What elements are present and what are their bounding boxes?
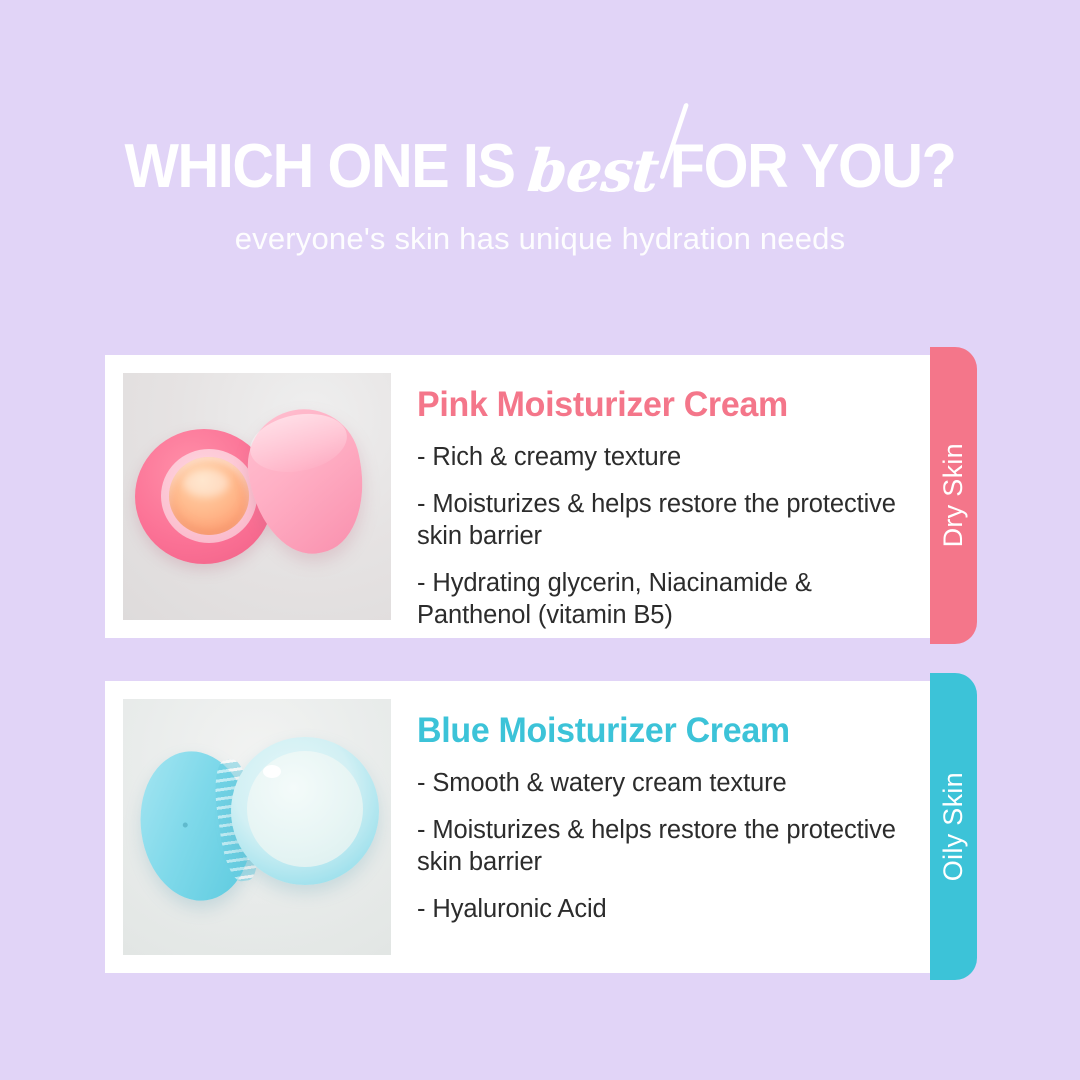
blue-moisturizer-jar-photo xyxy=(123,699,391,955)
page-header: WHICH ONE ISbestFOR YOU? everyone's skin… xyxy=(0,0,1080,258)
blue-bullet-1: - Smooth & watery cream texture xyxy=(417,767,917,799)
headline-script-word: best xyxy=(525,136,662,206)
page-title: WHICH ONE ISbestFOR YOU? xyxy=(38,132,1042,202)
headline-part-1: WHICH ONE IS xyxy=(124,132,514,202)
oily-skin-tab-label: Oily Skin xyxy=(938,772,969,881)
pink-cream-icon xyxy=(169,457,249,535)
pink-moisturizer-jar-photo xyxy=(123,373,391,620)
blue-product-title: Blue Moisturizer Cream xyxy=(417,711,902,751)
page-subtitle: everyone's skin has unique hydration nee… xyxy=(0,220,1080,258)
blue-jar-base-icon xyxy=(231,737,379,885)
pink-product-title: Pink Moisturizer Cream xyxy=(417,385,902,425)
product-card-blue[interactable]: Blue Moisturizer Cream - Smooth & watery… xyxy=(105,681,935,973)
blue-gel-icon xyxy=(247,751,363,867)
product-card-pink[interactable]: Pink Moisturizer Cream - Rich & creamy t… xyxy=(105,355,935,638)
pink-card-body: Pink Moisturizer Cream - Rich & creamy t… xyxy=(391,373,917,631)
pink-bullet-1: - Rich & creamy texture xyxy=(417,441,917,473)
blue-bullet-2: - Moisturizes & helps restore the protec… xyxy=(417,814,917,878)
pink-jar-inner-rim-icon xyxy=(161,449,257,543)
blue-card-body: Blue Moisturizer Cream - Smooth & watery… xyxy=(391,699,917,925)
blue-bullet-3: - Hyaluronic Acid xyxy=(417,893,917,925)
headline-part-2: FOR YOU? xyxy=(670,132,956,202)
product-card-list: Pink Moisturizer Cream - Rich & creamy t… xyxy=(105,355,985,973)
oily-skin-tab[interactable]: Oily Skin xyxy=(930,673,977,980)
pink-bullet-2: - Moisturizes & helps restore the protec… xyxy=(417,488,917,552)
dry-skin-tab-label: Dry Skin xyxy=(938,443,969,547)
pink-bullet-3: - Hydrating glycerin, Niacinamide & Pant… xyxy=(417,567,917,631)
dry-skin-tab[interactable]: Dry Skin xyxy=(930,347,977,644)
